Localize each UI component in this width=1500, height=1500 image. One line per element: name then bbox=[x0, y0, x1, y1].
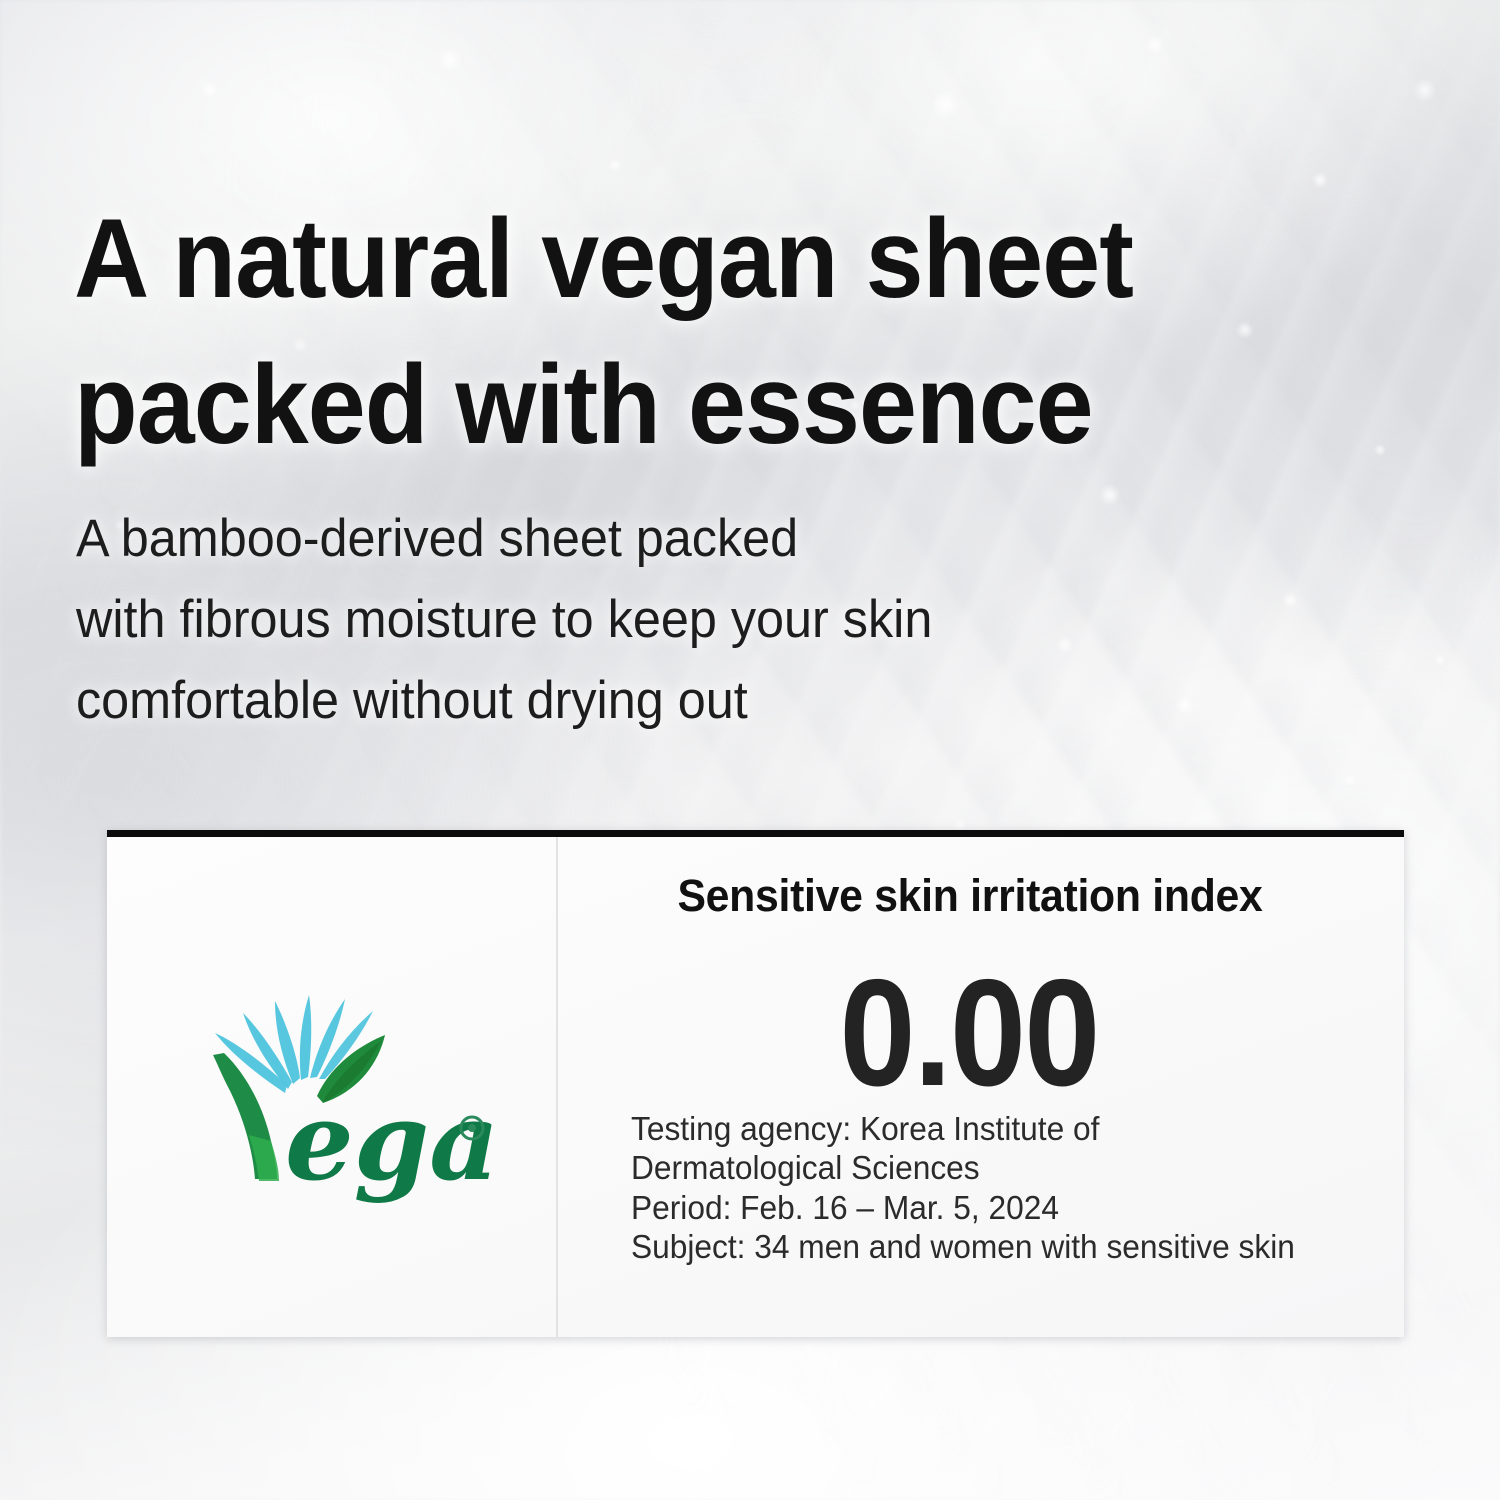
test-detail-period: Period: Feb. 16 – Mar. 5, 2024 bbox=[631, 1188, 1295, 1227]
irritation-index-panel: Sensitive skin irritation index 0.00 Tes… bbox=[558, 837, 1404, 1337]
infographic-canvas: A natural vegan sheet packed with essenc… bbox=[0, 0, 1500, 1500]
page-subheading: A bamboo-derived sheet packed with fibro… bbox=[76, 498, 1197, 741]
vegan-wordmark: egan bbox=[285, 1079, 497, 1205]
irritation-index-value: 0.00 bbox=[599, 957, 1339, 1109]
test-details: Testing agency: Korea Institute of Derma… bbox=[631, 1109, 1295, 1266]
test-detail-subject: Subject: 34 men and women with sensitive… bbox=[631, 1227, 1295, 1266]
headline-line-1: A natural vegan sheet bbox=[74, 186, 1302, 332]
irritation-index-title: Sensitive skin irritation index bbox=[579, 870, 1362, 922]
test-detail-agency-line-1: Testing agency: Korea Institute of bbox=[631, 1109, 1295, 1148]
headline-line-2: packed with essence bbox=[74, 332, 1302, 478]
page-headline: A natural vegan sheet packed with essenc… bbox=[74, 186, 1302, 477]
test-detail-agency-line-2: Dermatological Sciences bbox=[631, 1148, 1295, 1187]
clinical-test-card: egan Sensitive skin irritation index 0.0… bbox=[107, 830, 1404, 1337]
vegan-logo-panel: egan bbox=[107, 837, 558, 1337]
vegan-certification-logo: egan bbox=[167, 965, 497, 1215]
subheading-line-1: A bamboo-derived sheet packed bbox=[76, 498, 1197, 579]
subheading-line-2: with fibrous moisture to keep your skin bbox=[76, 579, 1197, 660]
subheading-line-3: comfortable without drying out bbox=[76, 660, 1197, 741]
